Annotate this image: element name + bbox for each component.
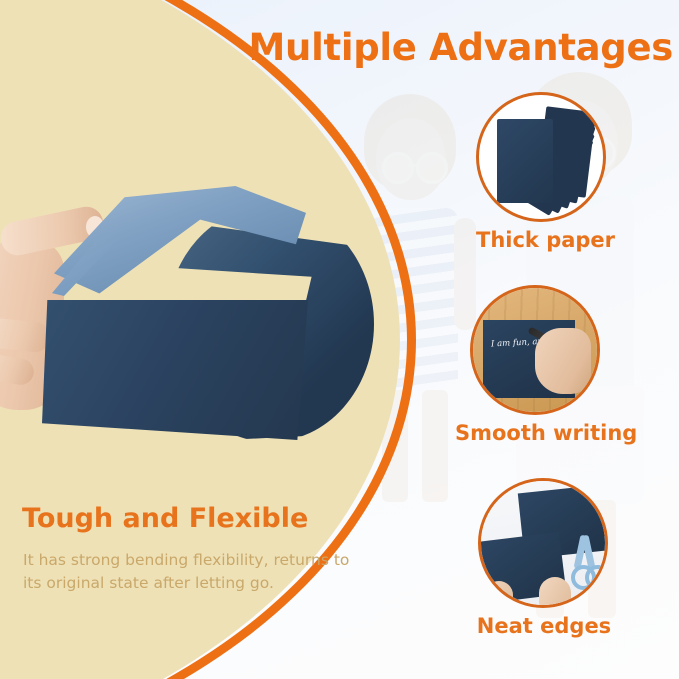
feature-label-smooth-writing: Smooth writing bbox=[455, 421, 615, 445]
sunglasses-icon bbox=[382, 152, 414, 184]
navy-cardstock-sheet bbox=[34, 178, 344, 468]
feature-badge-smooth-writing: I am fun, and bbox=[470, 285, 600, 415]
product-infographic: Multiple Advantages Tough and Flexible I… bbox=[0, 0, 679, 679]
feature-badge-thick-paper bbox=[476, 92, 606, 222]
front-sheet bbox=[497, 119, 553, 203]
hero-image-bending-paper bbox=[0, 178, 344, 478]
page-title: Multiple Advantages bbox=[249, 26, 673, 69]
feature-label-thick-paper: Thick paper bbox=[476, 228, 606, 252]
hand-right bbox=[539, 577, 571, 608]
hand-left bbox=[485, 581, 513, 608]
scissors-handle-ring bbox=[585, 565, 608, 590]
left-heading: Tough and Flexible bbox=[22, 503, 308, 534]
sheet-flat-face bbox=[42, 300, 308, 440]
feature-badge-neat-edges bbox=[478, 478, 608, 608]
writing-hand bbox=[535, 328, 591, 394]
sunglasses-bridge bbox=[408, 164, 418, 167]
left-body-text: It has strong bending flexibility, retur… bbox=[23, 549, 353, 595]
sunglasses-icon bbox=[416, 152, 448, 184]
child-leg bbox=[422, 390, 448, 502]
feature-label-neat-edges: Neat edges bbox=[470, 614, 618, 638]
